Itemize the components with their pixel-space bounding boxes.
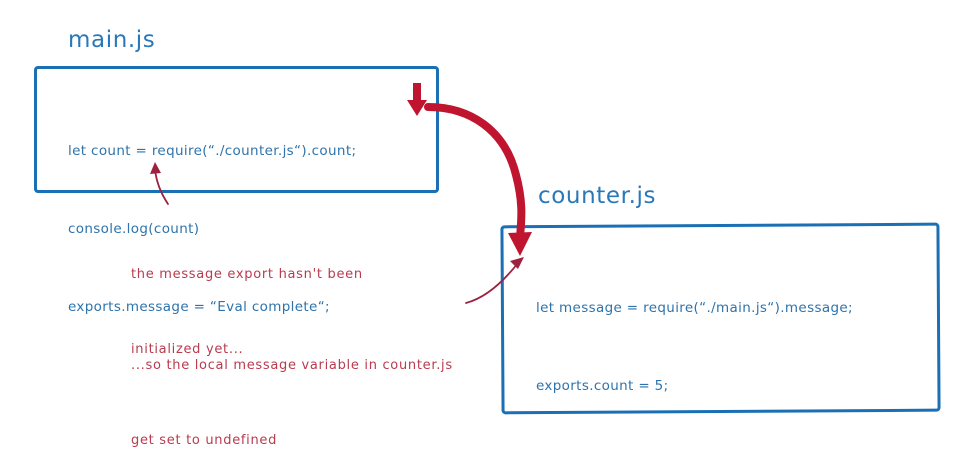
diagram-canvas: main.js let count = require(“./counter.j… <box>0 0 971 454</box>
code-line: let message = require(“./main.js“).messa… <box>536 295 853 321</box>
note-line: ...so the local message variable in coun… <box>131 353 453 378</box>
note-undefined-variable: ...so the local message variable in coun… <box>131 303 453 454</box>
counter-js-code: let message = require(“./main.js“).messa… <box>536 243 853 454</box>
note-line: get set to undefined <box>131 428 453 453</box>
counter-js-title: counter.js <box>538 183 656 209</box>
note-line: the message export hasn't been <box>131 262 363 287</box>
main-js-title: main.js <box>68 27 155 53</box>
code-line: let count = require(“./counter.js“).coun… <box>68 138 356 164</box>
code-line: exports.count = 5; <box>536 373 853 399</box>
